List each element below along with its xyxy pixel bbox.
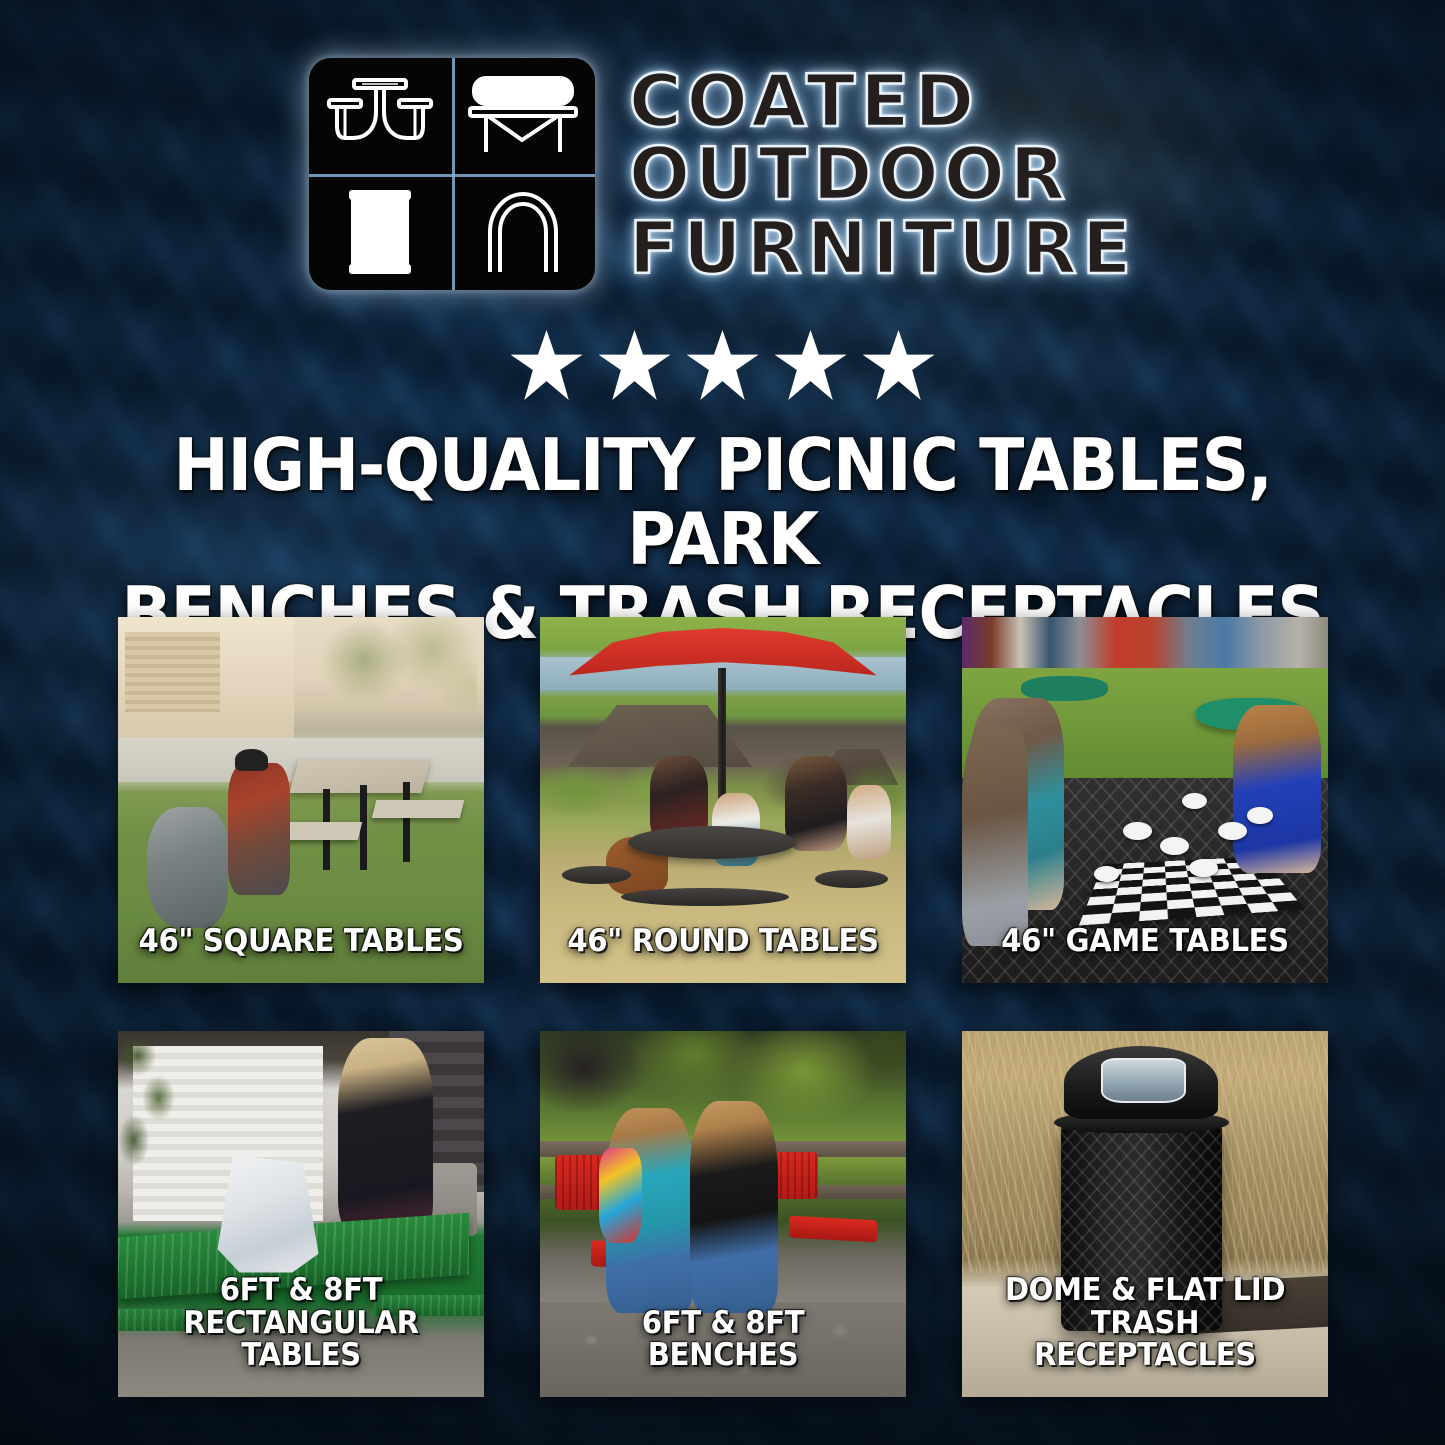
product-tile-round-tables[interactable]: 46" ROUND TABLES (540, 617, 906, 983)
brand-line-1: COATED (629, 66, 979, 137)
product-caption: 46" ROUND TABLES (557, 925, 890, 957)
caption-line: RECTANGULAR TABLES (135, 1307, 468, 1371)
product-caption: 6FT & 8FT BENCHES (557, 1307, 890, 1371)
product-grid: 46" SQUARE TABLES (118, 617, 1328, 1397)
caption-line: 46" SQUARE TABLES (135, 925, 468, 957)
caption-line: BENCHES (557, 1339, 890, 1371)
caption-line: 6FT & 8FT (135, 1274, 468, 1306)
park-bench-icon (464, 70, 582, 162)
brand-wordmark: COATED OUTDOOR FURNITURE (629, 64, 1136, 284)
bike-rack-icon (464, 186, 582, 278)
star-rating (0, 330, 1445, 400)
star-icon (599, 330, 671, 400)
product-caption: 46" SQUARE TABLES (135, 925, 468, 957)
picnic-table-icon (321, 70, 439, 162)
caption-line: TRASH RECEPTACLES (979, 1307, 1312, 1371)
logo-quadrant-bike-rack (452, 174, 595, 290)
trash-receptacle-icon (321, 186, 439, 278)
product-tile-game-tables[interactable]: 46" GAME TABLES (962, 617, 1328, 983)
product-caption: DOME & FLAT LID TRASH RECEPTACLES (979, 1274, 1312, 1371)
caption-line: 6FT & 8FT (557, 1307, 890, 1339)
star-icon (775, 330, 847, 400)
product-tile-trash-receptacles[interactable]: DOME & FLAT LID TRASH RECEPTACLES (962, 1031, 1328, 1397)
star-icon (863, 330, 935, 400)
promotional-poster: COATED OUTDOOR FURNITURE HIGH-QUALITY PI… (0, 0, 1445, 1445)
caption-line: DOME & FLAT LID (979, 1274, 1312, 1306)
brand-line-3: FURNITURE (629, 213, 1136, 284)
product-caption: 6FT & 8FT RECTANGULAR TABLES (135, 1274, 468, 1371)
logo-quadrant-trash-receptacle (309, 174, 452, 290)
brand-line-2: OUTDOOR (629, 139, 1070, 210)
logo-quadrant-picnic-table (309, 58, 452, 174)
headline-line-1: HIGH-QUALITY PICNIC TABLES, PARK (113, 428, 1332, 576)
logo-mark (309, 58, 595, 290)
star-icon (687, 330, 759, 400)
product-tile-square-tables[interactable]: 46" SQUARE TABLES (118, 617, 484, 983)
product-tile-rectangular-tables[interactable]: 6FT & 8FT RECTANGULAR TABLES (118, 1031, 484, 1397)
caption-line: 46" ROUND TABLES (557, 925, 890, 957)
star-icon (511, 330, 583, 400)
caption-line: 46" GAME TABLES (979, 925, 1312, 957)
brand-logo: COATED OUTDOOR FURNITURE (0, 58, 1445, 290)
product-caption: 46" GAME TABLES (979, 925, 1312, 957)
logo-quadrant-park-bench (452, 58, 595, 174)
product-tile-benches[interactable]: 6FT & 8FT BENCHES (540, 1031, 906, 1397)
